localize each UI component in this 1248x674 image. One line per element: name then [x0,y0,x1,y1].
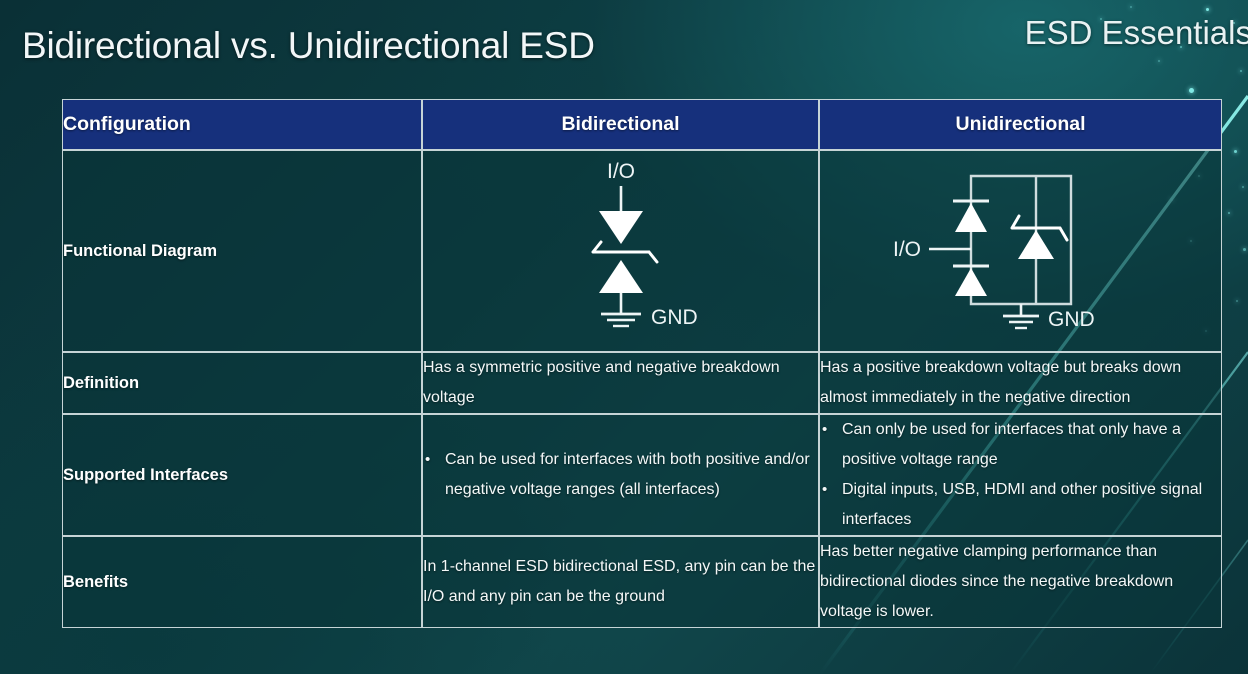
slide-canvas: Bidirectional vs. Unidirectional ESD ESD… [0,0,1248,674]
table-body: Functional Diagram I/O [62,150,1222,628]
comparison-table: Configuration Bidirectional Unidirection… [62,99,1222,628]
cell-definition-unidirectional: Has a positive breakdown voltage but bre… [819,352,1222,414]
list-item: Digital inputs, USB, HDMI and other posi… [820,475,1221,535]
cell-benefits-unidirectional: Has better negative clamping performance… [819,536,1222,628]
bullet-list-unidirectional: Can only be used for interfaces that onl… [820,415,1221,535]
unidirectional-esd-symbol: I/O GND [871,156,1171,346]
table-row-definition: Definition Has a symmetric positive and … [62,352,1222,414]
bidirectional-gnd-label: GND [651,306,698,329]
cell-interfaces-bidirectional: Can be used for interfaces with both pos… [422,414,819,536]
row-label-definition: Definition [62,352,422,414]
row-label-benefits: Benefits [62,536,422,628]
row-label-supported-interfaces: Supported Interfaces [62,414,422,536]
cell-bidirectional-diagram: I/O [422,150,819,352]
bullet-list-bidirectional: Can be used for interfaces with both pos… [423,445,818,505]
row-label-functional-diagram: Functional Diagram [62,150,422,352]
list-item: Can only be used for interfaces that onl… [820,415,1221,475]
column-header-configuration: Configuration [62,99,422,150]
table-row-benefits: Benefits In 1-channel ESD bidirectional … [62,536,1222,628]
table-head: Configuration Bidirectional Unidirection… [62,99,1222,150]
deck-label: ESD Essentials [1025,14,1248,52]
title-row: Bidirectional vs. Unidirectional ESD ESD… [0,0,1248,92]
cell-interfaces-unidirectional: Can only be used for interfaces that onl… [819,414,1222,536]
table-row-functional-diagram: Functional Diagram I/O [62,150,1222,352]
unidirectional-gnd-label: GND [1048,308,1095,331]
bidirectional-io-label: I/O [606,160,634,183]
bidirectional-esd-symbol: I/O [501,156,741,346]
page-title: Bidirectional vs. Unidirectional ESD [22,25,595,67]
list-item: Can be used for interfaces with both pos… [423,445,818,505]
cell-unidirectional-diagram: I/O GND [819,150,1222,352]
cell-definition-bidirectional: Has a symmetric positive and negative br… [422,352,819,414]
table-header-row: Configuration Bidirectional Unidirection… [62,99,1222,150]
column-header-unidirectional: Unidirectional [819,99,1222,150]
unidirectional-io-label: I/O [892,238,920,261]
table-row-supported-interfaces: Supported Interfaces Can be used for int… [62,414,1222,536]
cell-benefits-bidirectional: In 1-channel ESD bidirectional ESD, any … [422,536,819,628]
column-header-bidirectional: Bidirectional [422,99,819,150]
